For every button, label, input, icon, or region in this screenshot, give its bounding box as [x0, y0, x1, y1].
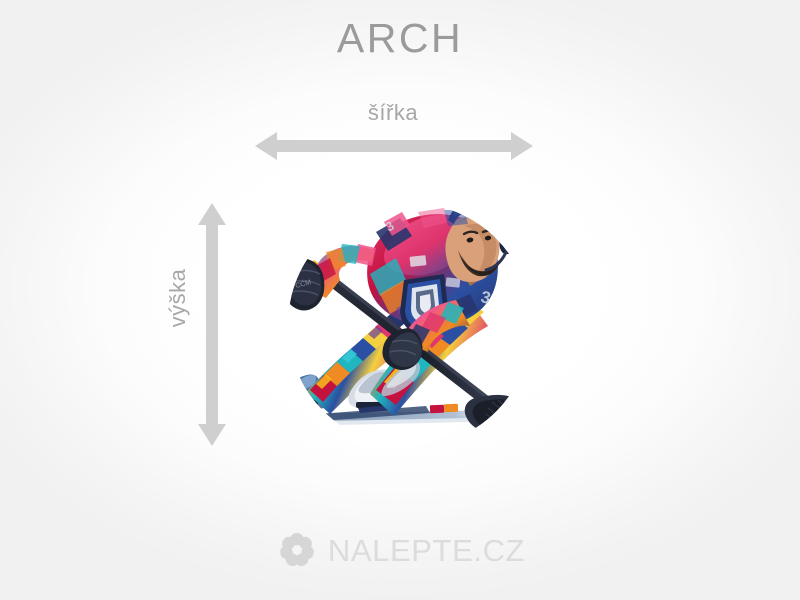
height-dimension-label: výška — [165, 266, 191, 330]
player-head — [445, 196, 522, 286]
height-dimension-arrow — [194, 203, 230, 446]
width-dimension-arrow — [255, 128, 533, 164]
petal-flower-logo-icon — [275, 528, 319, 572]
page-title: ARCH — [0, 14, 800, 63]
brand-footer: NALEPTE.CZ — [0, 528, 800, 572]
sticker-preview-canvas: ARCH šířka výška — [0, 0, 800, 600]
brand-wordmark: NALEPTE.CZ — [328, 535, 525, 566]
width-dimension-label: šířka — [0, 100, 786, 126]
ice-hockey-player-artwork: 3 3 — [258, 196, 558, 466]
